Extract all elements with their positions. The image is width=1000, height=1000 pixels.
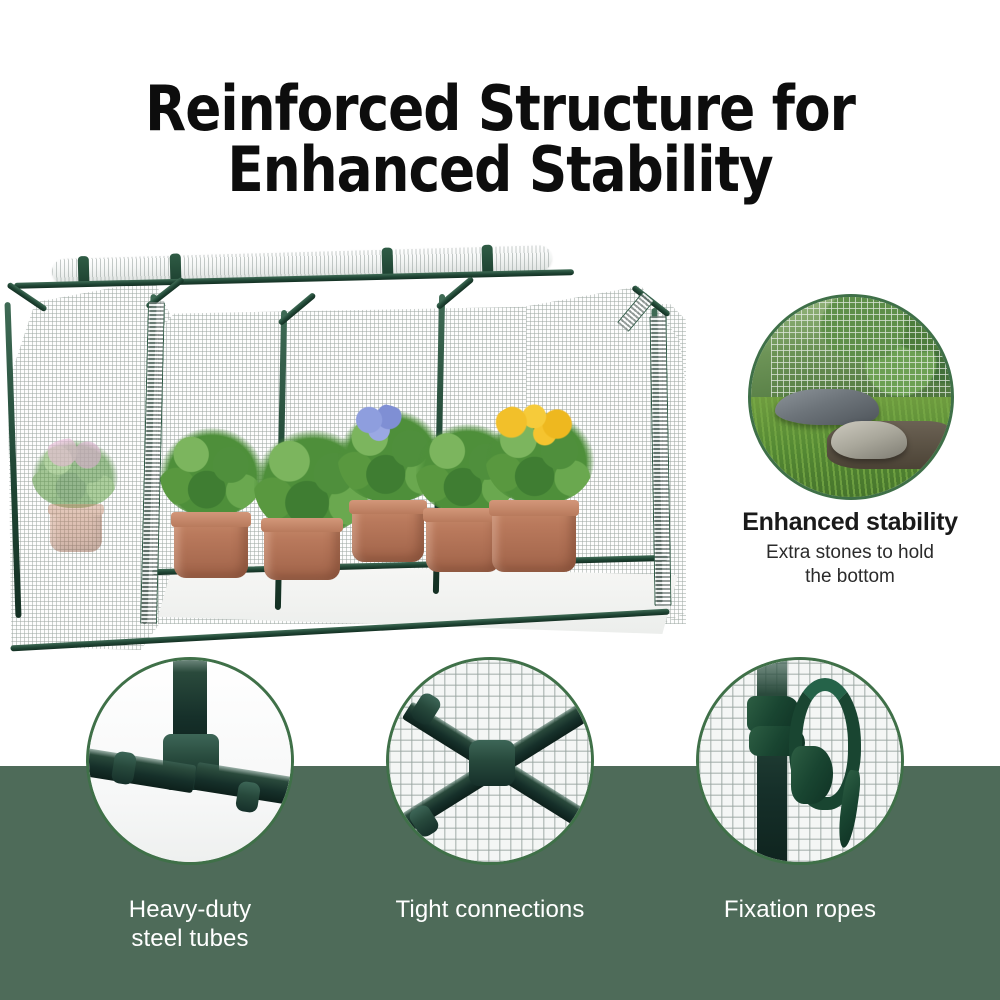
- feature-caption-fixation-ropes: Fixation ropes: [650, 895, 950, 924]
- inset-tight-connections-photo: [386, 657, 594, 865]
- feature-caption-steel-tubes: Heavy-duty steel tubes: [40, 895, 340, 954]
- plant-blossom-yellow: [492, 402, 580, 450]
- weight-stone: [831, 421, 907, 459]
- plant-pot: [352, 500, 424, 562]
- inset-steel-tubes-photo: [86, 657, 294, 865]
- hero-product-image: [0, 232, 692, 652]
- feature-caption-tight-connections: Tight connections: [340, 895, 640, 924]
- feature-caption-line-1: Tight connections: [396, 896, 585, 923]
- callout-enhanced-stability: Enhanced stability Extra stones to hold …: [700, 508, 1000, 588]
- callout-title: Enhanced stability: [700, 508, 1000, 537]
- plant-pot: [264, 518, 340, 580]
- plant-pot: [174, 512, 248, 578]
- callout-subtitle-line-1: Extra stones to hold: [766, 542, 934, 563]
- callout-subtitle: Extra stones to hold the bottom: [700, 541, 1000, 589]
- plant-blossom-pink: [44, 438, 106, 472]
- feature-caption-line-2: steel tubes: [131, 925, 248, 952]
- plant-pot: [492, 500, 576, 572]
- feature-caption-line-1: Heavy-duty: [129, 896, 251, 923]
- product-feature-graphic: Reinforced Structure for Enhanced Stabil…: [0, 0, 1000, 1000]
- stones-on-grass-scene: [751, 297, 951, 497]
- cross-center-connector: [469, 740, 515, 786]
- callout-subtitle-line-2: the bottom: [805, 566, 895, 587]
- plant-blossom-blue: [348, 404, 410, 446]
- vertical-steel-tube: [757, 657, 787, 865]
- weight-stone: [775, 389, 879, 425]
- page-title: Reinforced Structure for Enhanced Stabil…: [70, 78, 930, 201]
- inset-enhanced-stability-photo: [748, 294, 954, 500]
- feature-caption-line-1: Fixation ropes: [724, 896, 876, 923]
- plant-pot: [50, 504, 102, 552]
- inset-fixation-ropes-photo: [696, 657, 904, 865]
- page-title-line-2: Enhanced Stability: [70, 139, 930, 200]
- plant-foliage: [160, 428, 264, 516]
- plant-pot: [426, 508, 500, 572]
